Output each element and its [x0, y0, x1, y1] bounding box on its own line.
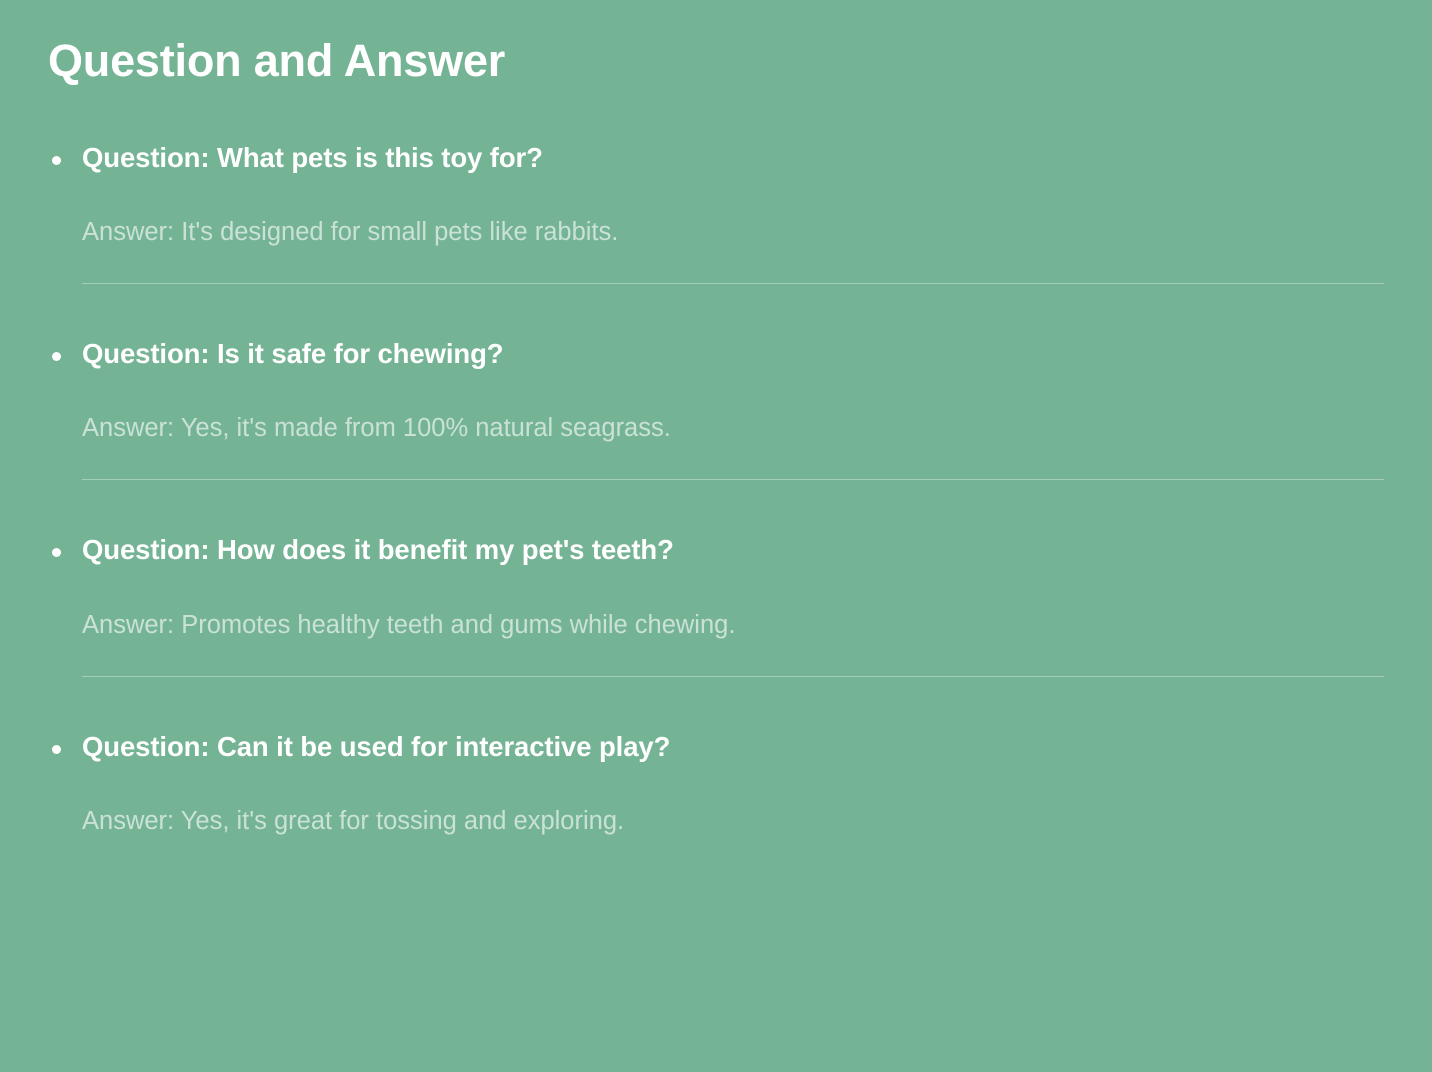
qa-answer-wrap: Answer: It's designed for small pets lik… — [82, 216, 1384, 249]
bullet-dot-icon — [52, 548, 61, 557]
page-title: Question and Answer — [48, 34, 1384, 89]
qa-answer: Answer: It's designed for small pets lik… — [82, 216, 1384, 249]
qa-question: Question: Can it be used for interactive… — [82, 728, 1384, 765]
bullet-dot-icon — [52, 745, 61, 754]
qa-answer-wrap: Answer: Promotes healthy teeth and gums … — [82, 609, 1384, 642]
qa-answer: Answer: Promotes healthy teeth and gums … — [82, 609, 1384, 642]
divider — [82, 676, 1384, 677]
list-item[interactable]: Question: What pets is this toy for? Ans… — [48, 139, 1384, 284]
qa-answer: Answer: Yes, it's great for tossing and … — [82, 805, 1384, 838]
qa-question: Question: How does it benefit my pet's t… — [82, 531, 1384, 568]
divider — [82, 479, 1384, 480]
bullet-dot-icon — [52, 156, 61, 165]
qa-question: Question: What pets is this toy for? — [82, 139, 1384, 176]
list-item[interactable]: Question: Can it be used for interactive… — [48, 728, 1384, 838]
qa-question: Question: Is it safe for chewing? — [82, 335, 1384, 372]
question-and-answer-panel: Question and Answer Question: What pets … — [0, 0, 1432, 1072]
qa-answer-wrap: Answer: Yes, it's made from 100% natural… — [82, 412, 1384, 445]
list-item[interactable]: Question: How does it benefit my pet's t… — [48, 531, 1384, 676]
qa-answer-wrap: Answer: Yes, it's great for tossing and … — [82, 805, 1384, 838]
qa-answer: Answer: Yes, it's made from 100% natural… — [82, 412, 1384, 445]
divider — [82, 283, 1384, 284]
list-item[interactable]: Question: Is it safe for chewing? Answer… — [48, 335, 1384, 480]
qa-list: Question: What pets is this toy for? Ans… — [48, 139, 1384, 838]
bullet-dot-icon — [52, 352, 61, 361]
